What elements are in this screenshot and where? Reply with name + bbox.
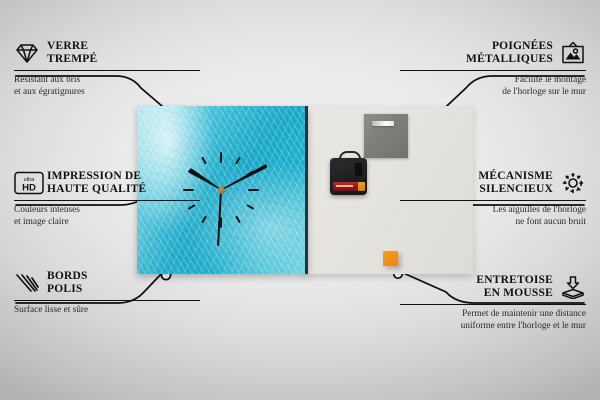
callout-title-line2: EN MOUSSE — [484, 287, 553, 299]
callout-desc-line2: et aux égratignures — [14, 87, 85, 97]
callout-title-line2: HAUTE QUALITÉ — [47, 183, 146, 195]
callout-desc-line2: ne font aucun bruit — [516, 217, 586, 227]
infographic-canvas: VERRE TREMPÉ Résistant aux bris et aux é… — [0, 0, 600, 400]
callout-rule — [400, 200, 586, 201]
callout-rule — [14, 70, 200, 71]
callout-rule — [400, 304, 586, 305]
callout-entretoise-en-mousse: ENTRETOISE EN MOUSSE Permet de maintenir… — [400, 274, 586, 332]
battery — [333, 182, 361, 191]
polished-edges-icon — [14, 271, 40, 295]
callout-verre-trempe: VERRE TREMPÉ Résistant aux bris et aux é… — [14, 40, 200, 98]
callout-title-line1: ENTRETOISE — [476, 274, 553, 286]
callout-desc-line1: Facilite le montage — [515, 75, 586, 85]
callout-desc-line1: Couleurs intenses — [14, 205, 80, 215]
callout-desc-line1: Résistant aux bris — [14, 75, 80, 85]
callout-rule — [14, 200, 200, 201]
metal-hanger-plate — [364, 114, 408, 158]
callout-desc-line1: Les aiguilles de l'horloge — [493, 205, 586, 215]
callout-title-line2: POLIS — [47, 283, 83, 295]
battery-terminal — [358, 182, 365, 191]
callout-title-line2: SILENCIEUX — [479, 183, 553, 195]
hands-center-cap — [218, 187, 225, 194]
callout-desc-line2: uniforme entre l'horloge et le mur — [461, 321, 586, 331]
ultra-hd-icon: ultraHD — [14, 171, 40, 195]
callout-desc-line2: et image claire — [14, 217, 69, 227]
callout-title-line1: VERRE — [47, 40, 88, 52]
clock-movement — [330, 158, 367, 195]
picture-hanger-icon — [560, 41, 586, 65]
foam-spacer-icon — [560, 275, 586, 299]
callout-title-line2: TREMPÉ — [47, 53, 97, 65]
svg-text:HD: HD — [22, 183, 36, 194]
callout-desc-line2: de l'horloge sur le mur — [502, 87, 586, 97]
diamond-icon — [14, 41, 40, 65]
callout-title-line2: MÉTALLIQUES — [466, 53, 553, 65]
gear-icon — [560, 171, 586, 195]
callout-title-line1: MÉCANISME — [478, 170, 553, 182]
callout-poignees-metalliques: POIGNÉES MÉTALLIQUES Facilite le montage… — [400, 40, 586, 98]
callout-desc-line1: Permet de maintenir une distance — [462, 309, 586, 319]
movement-slot — [355, 163, 362, 176]
callout-title-line1: BORDS — [47, 270, 88, 282]
foam-spacer — [383, 251, 398, 266]
callout-bords-polis: BORDS POLIS Surface lisse et sûre — [14, 270, 200, 317]
callout-rule — [400, 70, 586, 71]
callout-rule — [14, 300, 200, 301]
movement-hanger-loop — [339, 151, 361, 162]
callout-title-line1: POIGNÉES — [492, 40, 553, 52]
callout-impression-haute-qualite: ultraHD IMPRESSION DE HAUTE QUALITÉ Coul… — [14, 170, 200, 228]
callout-title-line1: IMPRESSION DE — [47, 170, 141, 182]
callout-desc-line1: Surface lisse et sûre — [14, 305, 88, 315]
callout-mecanisme-silencieux: MÉCANISME SILENCIEUX Les aiguilles de l'… — [400, 170, 586, 228]
